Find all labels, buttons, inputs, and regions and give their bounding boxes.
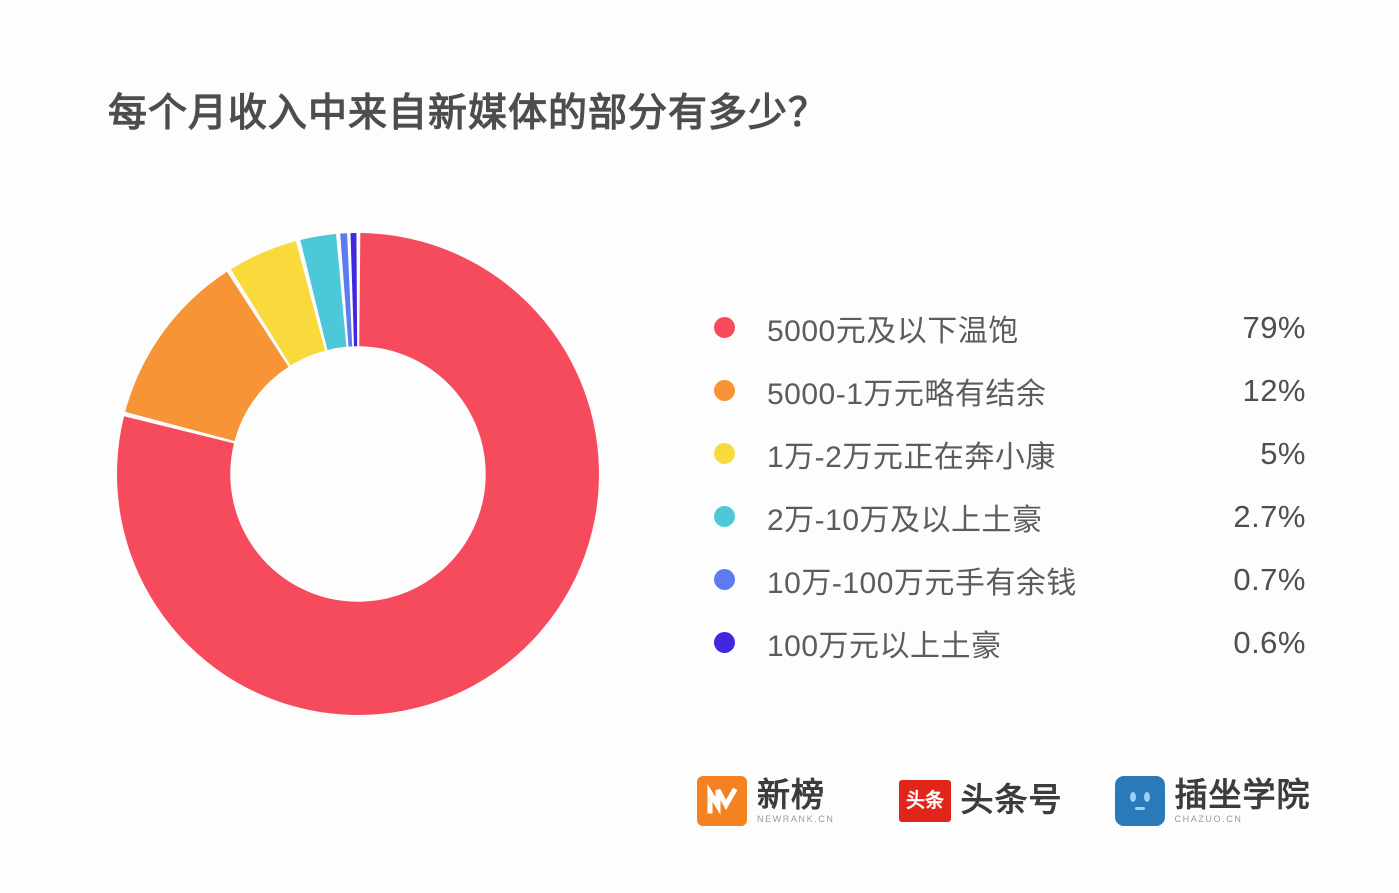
legend-dot-orange — [714, 380, 735, 401]
toutiao-mark-text: 头条 — [906, 791, 944, 811]
legend-dot-cyan — [714, 506, 735, 527]
donut-chart — [117, 233, 599, 715]
legend-dot-violet — [714, 632, 735, 653]
legend-value: 5% — [1260, 436, 1306, 472]
toutiaohao-logo-text: 头条号 — [961, 783, 1063, 820]
legend-value: 2.7% — [1233, 499, 1306, 535]
newrank-logo-text: 新榜 NEWRANK.CN — [757, 778, 835, 825]
toutiaohao-logo[interactable]: 头条 头条号 — [899, 780, 1063, 822]
chazuo-logo[interactable]: 插坐学院 CHAZUO.CN — [1115, 776, 1311, 826]
legend-item-5000-to-10k[interactable]: 5000-1万元略有结余 12% — [706, 359, 1306, 422]
legend-item-above-1m[interactable]: 100万元以上土豪 0.6% — [706, 611, 1306, 674]
chazuo-logo-cn: 插坐学院 — [1175, 778, 1311, 813]
legend-value: 12% — [1242, 373, 1306, 409]
toutiao-logo-mark: 头条 — [899, 780, 951, 822]
chazuo-logo-mark — [1115, 776, 1165, 826]
donut-chart-svg — [117, 233, 599, 715]
legend-dot-red — [714, 317, 735, 338]
legend-dot-yellow — [714, 443, 735, 464]
newrank-logo-en: NEWRANK.CN — [757, 814, 835, 824]
newrank-zigzag-icon — [705, 784, 739, 818]
legend-item-5000-and-below[interactable]: 5000元及以下温饱 79% — [706, 296, 1306, 359]
legend-dot-blue — [714, 569, 735, 590]
chazuo-logo-text: 插坐学院 CHAZUO.CN — [1175, 778, 1311, 825]
footer-logo-bar: 新榜 NEWRANK.CN 头条 头条号 — [697, 776, 1311, 826]
legend-value: 0.7% — [1233, 562, 1306, 598]
newrank-logo-mark — [697, 776, 747, 826]
toutiaohao-logo-cn: 头条号 — [961, 783, 1063, 818]
legend-item-10k-to-20k[interactable]: 1万-2万元正在奔小康 5% — [706, 422, 1306, 485]
legend-item-100k-to-1m[interactable]: 10万-100万元手有余钱 0.7% — [706, 548, 1306, 611]
legend-label: 10万-100万元手有余钱 — [767, 558, 1077, 602]
legend-label: 5000-1万元略有结余 — [767, 369, 1046, 413]
legend-value: 0.6% — [1233, 625, 1306, 661]
chazuo-face-icon — [1122, 785, 1158, 817]
donut-slice[interactable] — [351, 233, 358, 346]
legend-label: 1万-2万元正在奔小康 — [767, 432, 1056, 476]
legend-label: 5000元及以下温饱 — [767, 306, 1019, 350]
newrank-logo[interactable]: 新榜 NEWRANK.CN — [697, 776, 835, 826]
chart-page: 每个月收入中来自新媒体的部分有多少？ 5000元及以下温饱 79% 5000-1… — [0, 0, 1399, 893]
newrank-logo-cn: 新榜 — [757, 778, 835, 813]
legend-value: 79% — [1242, 310, 1306, 346]
chart-legend: 5000元及以下温饱 79% 5000-1万元略有结余 12% 1万-2万元正在… — [706, 296, 1306, 674]
legend-item-20k-to-100k[interactable]: 2万-10万及以上土豪 2.7% — [706, 485, 1306, 548]
chazuo-logo-en: CHAZUO.CN — [1175, 814, 1311, 824]
legend-label: 2万-10万及以上土豪 — [767, 495, 1043, 539]
legend-label: 100万元以上土豪 — [767, 621, 1002, 665]
donut-slice-group — [117, 233, 599, 715]
page-title: 每个月收入中来自新媒体的部分有多少？ — [108, 82, 828, 138]
